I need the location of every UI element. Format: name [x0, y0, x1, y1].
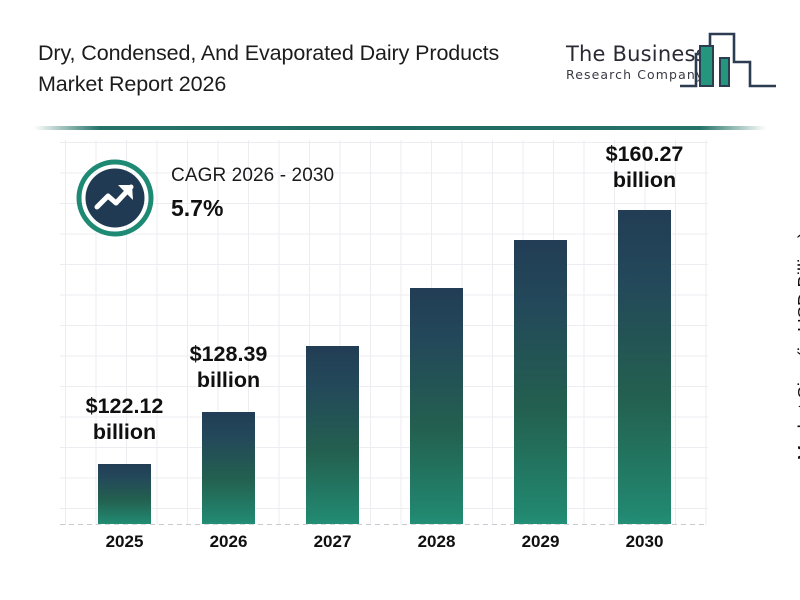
bar-2026[interactable]	[202, 412, 255, 524]
bar-value-amount-2025: $122.12	[63, 393, 187, 419]
trend-up-arrow-icon	[76, 159, 154, 237]
bar-2029[interactable]	[514, 240, 567, 524]
cagr-value-label: 5.7%	[171, 195, 334, 222]
x-axis-label-2028: 2028	[377, 532, 497, 552]
x-axis-label-2029: 2029	[481, 532, 601, 552]
cagr-period-label: CAGR 2026 - 2030	[171, 165, 334, 187]
company-logo: The Business Research Company	[560, 28, 778, 100]
bar-value-amount-2026: $128.39	[167, 341, 291, 367]
bar-2025[interactable]	[98, 464, 151, 524]
bar-value-label-2030: $160.27billion	[583, 141, 707, 193]
chart-page: Dry, Condensed, And Evaporated Dairy Pro…	[0, 0, 800, 600]
cagr-text-block: CAGR 2026 - 2030 5.7%	[171, 165, 334, 222]
bar-chart-logo-icon	[678, 28, 778, 94]
bar-2028[interactable]	[410, 288, 463, 524]
bar-value-unit-2025: billion	[63, 419, 187, 445]
page-title: Dry, Condensed, And Evaporated Dairy Pro…	[38, 38, 538, 100]
bar-2027[interactable]	[306, 346, 359, 524]
x-axis-label-2030: 2030	[585, 532, 705, 552]
bar-2030[interactable]	[618, 210, 671, 524]
x-axis-label-2027: 2027	[273, 532, 393, 552]
bar-value-amount-2030: $160.27	[583, 141, 707, 167]
cagr-annotation: CAGR 2026 - 2030 5.7%	[76, 155, 376, 241]
bar-value-label-2025: $122.12billion	[63, 393, 187, 445]
bar-value-label-2026: $128.39billion	[167, 341, 291, 393]
header-divider	[34, 126, 766, 130]
x-axis-label-2026: 2026	[169, 532, 289, 552]
bar-value-unit-2026: billion	[167, 367, 291, 393]
y-axis-title: Market Size (in USD Billion)	[794, 232, 800, 460]
x-axis-label-2025: 2025	[65, 532, 185, 552]
chart-baseline-axis	[60, 524, 708, 525]
bar-value-unit-2030: billion	[583, 167, 707, 193]
